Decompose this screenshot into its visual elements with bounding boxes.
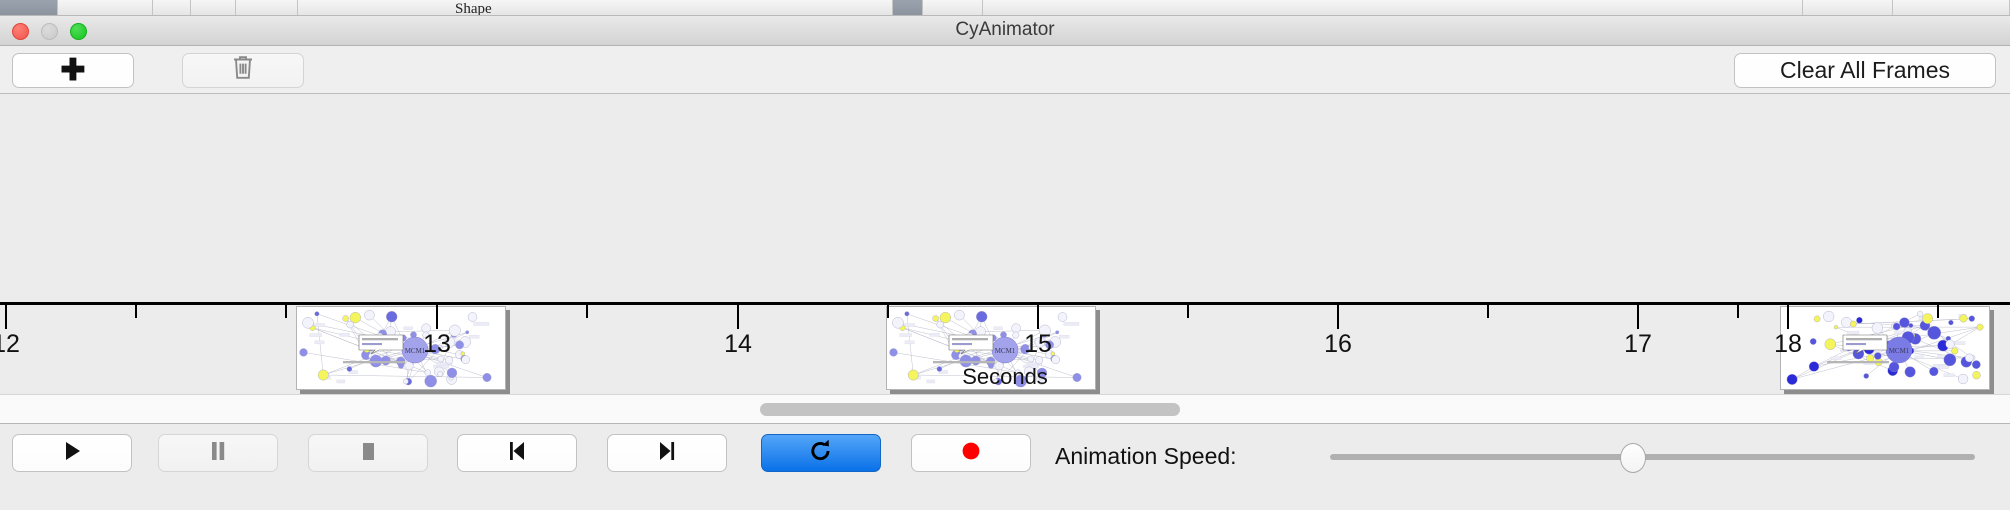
background-window-tab bbox=[1803, 0, 1893, 16]
ruler-tick bbox=[436, 305, 438, 329]
play-button[interactable] bbox=[12, 434, 132, 472]
background-window-tab bbox=[298, 0, 893, 16]
background-window-tab bbox=[58, 0, 153, 16]
ruler-tick-label: 13 bbox=[423, 330, 451, 359]
cyanimator-window: CyAnimator ✚ Clear All Frames MCM1 MC bbox=[0, 16, 2010, 510]
ruler-tick bbox=[737, 305, 739, 329]
animation-speed-thumb[interactable] bbox=[1620, 443, 1646, 473]
pause-button[interactable] bbox=[158, 434, 278, 472]
ruler-tick bbox=[1337, 305, 1339, 329]
plus-icon: ✚ bbox=[60, 56, 85, 86]
ruler-tick bbox=[1037, 305, 1039, 329]
background-window-tab bbox=[1893, 0, 2010, 16]
ruler-tick bbox=[1487, 305, 1489, 318]
background-window: Shape bbox=[0, 0, 2010, 16]
title-bar: CyAnimator bbox=[0, 16, 2010, 46]
delete-frame-button[interactable] bbox=[182, 53, 304, 88]
ruler-tick-label: 18 bbox=[1774, 330, 1802, 359]
ruler-tick bbox=[1187, 305, 1189, 318]
background-window-tab bbox=[0, 0, 58, 16]
loop-button[interactable] bbox=[761, 434, 881, 472]
skip-forward-button[interactable] bbox=[607, 434, 727, 472]
ruler-tick bbox=[1787, 305, 1789, 329]
skip-back-icon bbox=[504, 438, 530, 469]
ruler-tick bbox=[586, 305, 588, 318]
background-window-tab bbox=[923, 0, 983, 16]
ruler-baseline bbox=[0, 302, 2010, 305]
playback-bar: Animation Speed: bbox=[0, 424, 2010, 484]
background-window-tab bbox=[983, 0, 1803, 16]
background-window-tab bbox=[236, 0, 298, 16]
skip-back-button[interactable] bbox=[457, 434, 577, 472]
ruler-tick bbox=[887, 305, 889, 318]
scrollbar-thumb[interactable] bbox=[760, 403, 1180, 416]
ruler-tick bbox=[1737, 305, 1739, 318]
add-frame-button[interactable]: ✚ bbox=[12, 53, 134, 88]
pause-icon bbox=[205, 438, 231, 469]
stop-icon bbox=[355, 438, 381, 469]
skip-forward-icon bbox=[654, 438, 680, 469]
ruler-tick-label: 12 bbox=[0, 330, 20, 359]
animation-speed-label: Animation Speed: bbox=[1055, 443, 1237, 470]
stop-button[interactable] bbox=[308, 434, 428, 472]
ruler-tick bbox=[5, 305, 7, 329]
timeline-ruler[interactable]: 12131415161718Seconds bbox=[0, 302, 2010, 394]
background-window-tab bbox=[893, 0, 923, 16]
axis-label: Seconds bbox=[0, 364, 2010, 390]
ruler-tick bbox=[285, 305, 287, 318]
timeline-panel[interactable]: MCM1 MCM1 MCM1 12131415161718Seconds bbox=[0, 94, 2010, 394]
ruler-tick-label: 14 bbox=[724, 330, 752, 359]
loop-icon bbox=[808, 438, 834, 469]
ruler-tick-label: 17 bbox=[1624, 330, 1652, 359]
trash-icon bbox=[231, 54, 255, 87]
play-icon bbox=[59, 438, 85, 469]
clear-all-frames-button[interactable]: Clear All Frames bbox=[1734, 53, 1996, 88]
ruler-tick-label: 15 bbox=[1024, 330, 1052, 359]
background-window-tab bbox=[153, 0, 191, 16]
animation-speed-slider[interactable] bbox=[1330, 454, 1975, 460]
ruler-tick-label: 16 bbox=[1324, 330, 1352, 359]
background-window-label: Shape bbox=[455, 1, 492, 16]
background-window-tab bbox=[191, 0, 236, 16]
toolbar: ✚ Clear All Frames bbox=[0, 46, 2010, 94]
ruler-tick bbox=[1937, 305, 1939, 318]
ruler-tick bbox=[1637, 305, 1639, 329]
ruler-tick bbox=[135, 305, 137, 318]
record-button[interactable] bbox=[911, 434, 1031, 472]
horizontal-scrollbar[interactable] bbox=[0, 394, 2010, 424]
record-icon bbox=[958, 438, 984, 469]
window-title: CyAnimator bbox=[0, 19, 2010, 41]
